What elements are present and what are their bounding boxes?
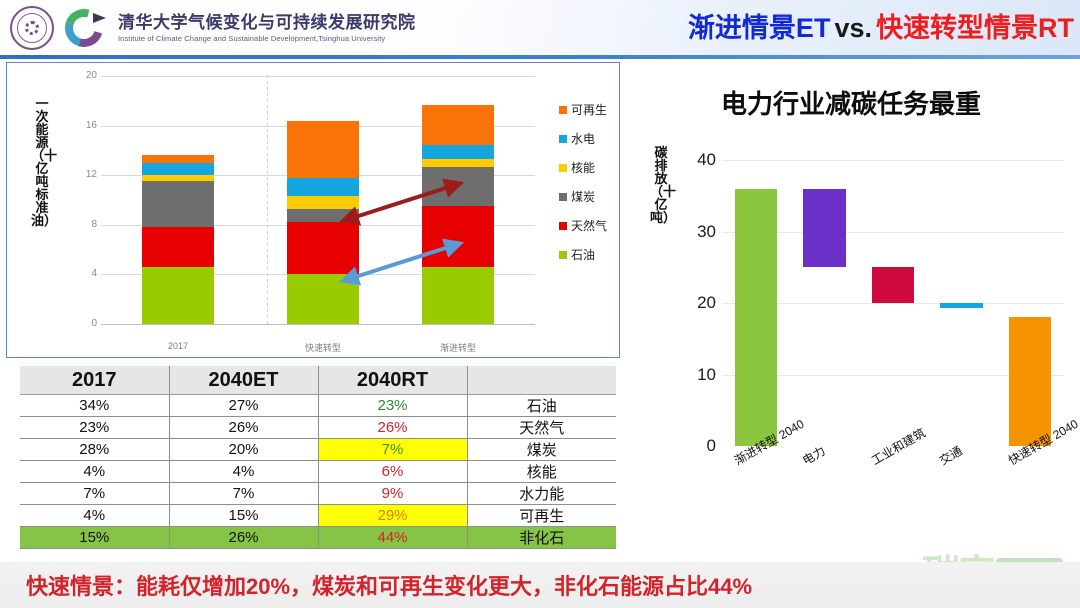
cell-2040et: 20% [169,439,318,461]
cell-category: 天然气 [467,417,616,439]
cell-2040et: 15% [169,505,318,527]
table-row: 28%20%7%煤炭 [20,439,616,461]
waterfall-title: 电力行业减碳任务最重 [626,84,1076,121]
waterfall-y-tick: 10 [678,365,716,385]
waterfall-y-axis-label: 碳排放（十亿吨） [650,146,672,224]
title-et: 渐进情景ET [688,13,831,43]
table-total-row: 15%26%44%非化石 [20,527,616,549]
waterfall-gridline [722,160,1064,161]
cell-2040rt: 9% [318,483,467,505]
cell-2017: 7% [20,483,169,505]
stacked-bar-1 [142,155,214,324]
energy-share-table: 2017 2040ET 2040RT 34%27%23%石油23%26%26%天… [20,366,616,549]
table-row: 7%7%9%水力能 [20,483,616,505]
waterfall-y-tick: 0 [678,436,716,456]
cell-2040rt: 6% [318,461,467,483]
bar-segment-可再生 [422,105,494,146]
col-header-2040rt: 2040RT [318,366,467,395]
table-row: 34%27%23%石油 [20,395,616,417]
tsinghua-seal-icon [10,6,54,50]
cell-category: 非化石 [467,527,616,549]
legend-item-核能[interactable]: 核能 [559,153,617,182]
cell-2017: 34% [20,395,169,417]
chart-legend: 可再生水电核能煤炭天然气石油 [559,95,617,269]
org-name-en: Institute of Climate Change and Sustaina… [118,34,416,43]
legend-item-煤炭[interactable]: 煤炭 [559,182,617,211]
slide-footer: 快速情景：能耗仅增加20%，煤炭和可再生变化更大，非化石能源占比44% [0,562,1080,608]
bar-segment-核能 [422,159,494,166]
cell-2040rt: 26% [318,417,467,439]
chart-category-separator [267,75,268,325]
cell-2040et: 4% [169,461,318,483]
legend-swatch-icon [559,193,567,201]
chart-gridline [101,76,535,77]
legend-swatch-icon [559,222,567,230]
org-name-cn: 清华大学气候变化与可持续发展研究院 [118,13,416,33]
bar-segment-可再生 [287,121,359,178]
table-row: 4%15%29%可再生 [20,505,616,527]
cell-2040et: 7% [169,483,318,505]
chart-plot-area: 0481216202017快速转型渐进转型 [67,75,547,325]
waterfall-bar-工业和建筑 [872,267,914,303]
legend-label: 水电 [571,130,595,147]
waterfall-x-label: 交通 [936,442,965,469]
primary-energy-chart: 一次能源（十亿吨标准油） 0481216202017快速转型渐进转型 可再生水电… [6,62,620,358]
legend-item-石油[interactable]: 石油 [559,240,617,269]
chart-y-tick: 0 [71,318,97,329]
table-header-row: 2017 2040ET 2040RT [20,366,616,395]
cell-category: 煤炭 [467,439,616,461]
legend-item-可再生[interactable]: 可再生 [559,95,617,124]
header-divider [0,55,1080,59]
waterfall-bar-电力 [803,189,845,268]
bar-segment-水电 [142,163,214,175]
col-header-2017: 2017 [20,366,169,395]
legend-swatch-icon [559,135,567,143]
institute-logo: 清华大学气候变化与可持续发展研究院 Institute of Climate C… [10,4,416,52]
cell-category: 水力能 [467,483,616,505]
waterfall-bar-交通 [940,303,982,308]
col-header-2040et: 2040ET [169,366,318,395]
cell-category: 核能 [467,461,616,483]
chart-x-tick: 快速转型 [273,341,373,354]
col-header-category [467,366,616,395]
waterfall-bar-渐进转型 2040 [735,189,777,446]
legend-item-水电[interactable]: 水电 [559,124,617,153]
waterfall-x-label: 电力 [799,442,828,469]
chart-y-tick: 4 [71,268,97,279]
legend-label: 可再生 [571,101,607,118]
cell-2017: 4% [20,505,169,527]
legend-swatch-icon [559,106,567,114]
cell-2040rt: 29% [318,505,467,527]
legend-label: 天然气 [571,217,607,234]
cell-category: 石油 [467,395,616,417]
renewable-gap-arrow [337,175,467,231]
bar-segment-可再生 [142,155,214,162]
cell-2040et: 26% [169,417,318,439]
chart-x-tick: 2017 [128,341,228,351]
chart-y-tick: 8 [71,219,97,230]
waterfall-y-tick: 40 [678,150,716,170]
left-panel: 一次能源（十亿吨标准油） 0481216202017快速转型渐进转型 可再生水电… [6,62,620,546]
right-panel: 电力行业减碳任务最重 碳排放（十亿吨） 010203040渐进转型 2040电力… [626,62,1076,546]
title-vs: vs. [834,13,872,43]
chart-y-tick: 16 [71,120,97,131]
cell-2017: 15% [20,527,169,549]
bar-segment-水电 [422,145,494,159]
coal-gap-arrow [337,235,467,291]
cell-2040et: 27% [169,395,318,417]
cell-2040rt: 23% [318,395,467,417]
legend-label: 煤炭 [571,188,595,205]
table-row: 23%26%26%天然气 [20,417,616,439]
legend-swatch-icon [559,164,567,172]
cell-2017: 23% [20,417,169,439]
legend-label: 石油 [571,246,595,263]
chart-y-tick: 12 [71,169,97,180]
table-row: 4%4%6%核能 [20,461,616,483]
chart-y-axis-label: 一次能源（十亿吨标准油） [31,97,53,227]
title-rt: 快速转型情景RT [876,13,1074,43]
waterfall-bar-快速转型 2040 [1009,317,1051,446]
slide-header: 清华大学气候变化与可持续发展研究院 Institute of Climate C… [0,0,1080,57]
footer-summary-text: 快速情景：能耗仅增加20%，煤炭和可再生变化更大，非化石能源占比44% [0,569,752,601]
cell-2040et: 26% [169,527,318,549]
bar-segment-煤炭 [142,181,214,227]
chart-x-axis [101,324,535,325]
share-table: 2017 2040ET 2040RT 34%27%23%石油23%26%26%天… [20,366,616,549]
cell-category: 可再生 [467,505,616,527]
waterfall-y-tick: 20 [678,293,716,313]
chart-y-tick: 20 [71,70,97,81]
chart-x-tick: 渐进转型 [408,341,508,354]
cell-2017: 4% [20,461,169,483]
waterfall-y-tick: 30 [678,222,716,242]
legend-swatch-icon [559,251,567,259]
cell-2040rt: 44% [318,527,467,549]
bar-segment-天然气 [142,227,214,267]
cell-2040rt: 7% [318,439,467,461]
waterfall-x-label: 工业和建筑 [868,424,928,469]
page-title: 渐进情景ETvs.快速转型情景RT [688,8,1074,48]
bar-segment-石油 [142,267,214,324]
legend-label: 核能 [571,159,595,176]
cell-2017: 28% [20,439,169,461]
legend-item-天然气[interactable]: 天然气 [559,211,617,240]
waterfall-plot-area: 010203040渐进转型 2040电力工业和建筑交通快速转型 2040 [678,146,1064,476]
institute-c-logo-icon [62,6,108,50]
